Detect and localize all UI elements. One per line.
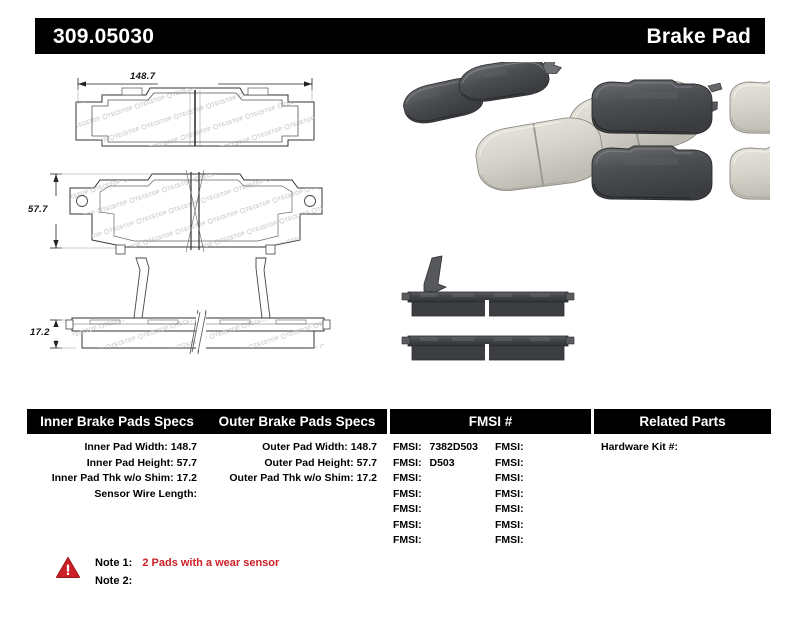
product-photo-panel [392,62,770,387]
note-2-value [132,575,139,587]
column-header-outer-specs: Outer Brake Pads Specs [207,409,387,434]
table-row: Inner Pad Width: 148.7 [27,440,207,456]
spec-table: Inner Brake Pads Specs Outer Brake Pads … [27,409,771,549]
outer-spec-value: 148.7 [351,441,377,453]
table-row: FMSI: 7382D503 [393,440,489,456]
fmsi-label: FMSI: [495,518,524,534]
part-number: 309.05030 [53,26,154,47]
pad-top-view [70,86,330,156]
related-parts-column: Hardware Kit #: [591,440,768,549]
pad-middle-view [64,170,332,254]
dimension-label-height: 57.7 [28,204,48,215]
fmsi-label: FMSI: [393,471,422,487]
dimension-label-width: 148.7 [130,71,155,82]
technical-drawing-panel: STOP TECH [30,62,390,387]
dimension-line-thickness [50,320,62,348]
outer-specs-column: Outer Pad Width: 148.7 Outer Pad Height:… [207,440,387,549]
edge-view-pad-pair-photo [402,256,574,361]
note-2-label: Note 2: [95,575,132,587]
table-row: Hardware Kit #: [591,440,768,456]
fmsi-label: FMSI: [393,456,422,472]
table-row: FMSI: [393,518,489,534]
fmsi-label: FMSI: [393,518,422,534]
fmsi-column: FMSI: 7382D503 FMSI: D503 FMSI: FMSI: FM… [387,440,591,549]
table-row: FMSI: [495,487,591,503]
column-header-related-parts: Related Parts [594,409,771,434]
table-row: FMSI: [393,533,489,549]
warning-triangle-icon [55,556,81,579]
fmsi-subcolumn-right: FMSI: FMSI: FMSI: FMSI: FMSI: [489,440,591,549]
table-row: Outer Pad Thk w/o Shim: 17.2 [207,471,387,487]
fmsi-label: FMSI: [495,471,524,487]
inner-spec-value: 148.7 [171,441,197,453]
product-type-title: Brake Pad [646,26,751,47]
table-row: FMSI: [495,518,591,534]
table-row: Inner Pad Height: 57.7 [27,456,207,472]
spec-table-body: Inner Pad Width: 148.7 Inner Pad Height:… [27,434,771,549]
spec-table-header-row: Inner Brake Pads Specs Outer Brake Pads … [27,409,771,434]
table-row: Outer Pad Width: 148.7 [207,440,387,456]
note-1-value: 2 Pads with a wear sensor [135,557,279,569]
note-2-row: Note 2: [95,576,139,587]
fmsi-label: FMSI: [393,502,422,518]
related-part-label: Hardware Kit #: [601,441,678,453]
table-row: FMSI: [495,440,591,456]
fmsi-label: FMSI: [393,533,422,549]
fmsi-value: 7382D503 [425,440,478,456]
fmsi-value: D503 [425,456,455,472]
fmsi-label: FMSI: [495,456,524,472]
table-row: FMSI: D503 [393,456,489,472]
table-row: Outer Pad Height: 57.7 [207,456,387,472]
outer-spec-value: 17.2 [357,472,377,484]
fmsi-label: FMSI: [495,533,524,549]
outer-spec-value: 57.7 [357,457,377,469]
outer-spec-label: Outer Pad Width: [262,441,348,453]
outer-spec-label: Outer Pad Height: [264,457,353,469]
note-1-row: Note 1: 2 Pads with a wear sensor [95,558,279,569]
header-bar: 309.05030 Brake Pad [35,18,765,54]
inner-spec-label: Inner Pad Height: [87,457,174,469]
dimension-line-height [50,174,62,248]
table-row: Inner Pad Thk w/o Shim: 17.2 [27,471,207,487]
fmsi-label: FMSI: [495,487,524,503]
dimension-label-thickness: 17.2 [30,327,50,338]
fmsi-label: FMSI: [495,440,524,456]
brake-pad-drawing-svg: STOP TECH [30,62,390,387]
fmsi-label: FMSI: [393,440,422,456]
inner-spec-value: 57.7 [177,457,197,469]
fmsi-label: FMSI: [393,487,422,503]
inner-specs-column: Inner Pad Width: 148.7 Inner Pad Height:… [27,440,207,549]
product-photos-svg [392,62,770,387]
inner-spec-label: Sensor Wire Length: [94,488,197,500]
table-row: FMSI: [495,471,591,487]
table-row: FMSI: [495,533,591,549]
table-row: FMSI: [495,456,591,472]
outer-spec-label: Outer Pad Thk w/o Shim: [229,472,353,484]
table-row: FMSI: [393,471,489,487]
table-row: FMSI: [393,487,489,503]
column-header-fmsi: FMSI # [390,409,591,434]
table-row: Sensor Wire Length: [27,487,207,503]
fmsi-subcolumn-left: FMSI: 7382D503 FMSI: D503 FMSI: FMSI: FM… [387,440,489,549]
note-1-label: Note 1: [95,557,132,569]
inner-spec-value: 17.2 [177,472,197,484]
inner-spec-label: Inner Pad Thk w/o Shim: [52,472,174,484]
inner-spec-label: Inner Pad Width: [84,441,167,453]
table-row: FMSI: [495,502,591,518]
fmsi-label: FMSI: [495,502,524,518]
pad-edge-view [66,258,330,354]
column-header-inner-specs: Inner Brake Pads Specs [27,409,207,434]
table-row: FMSI: [393,502,489,518]
